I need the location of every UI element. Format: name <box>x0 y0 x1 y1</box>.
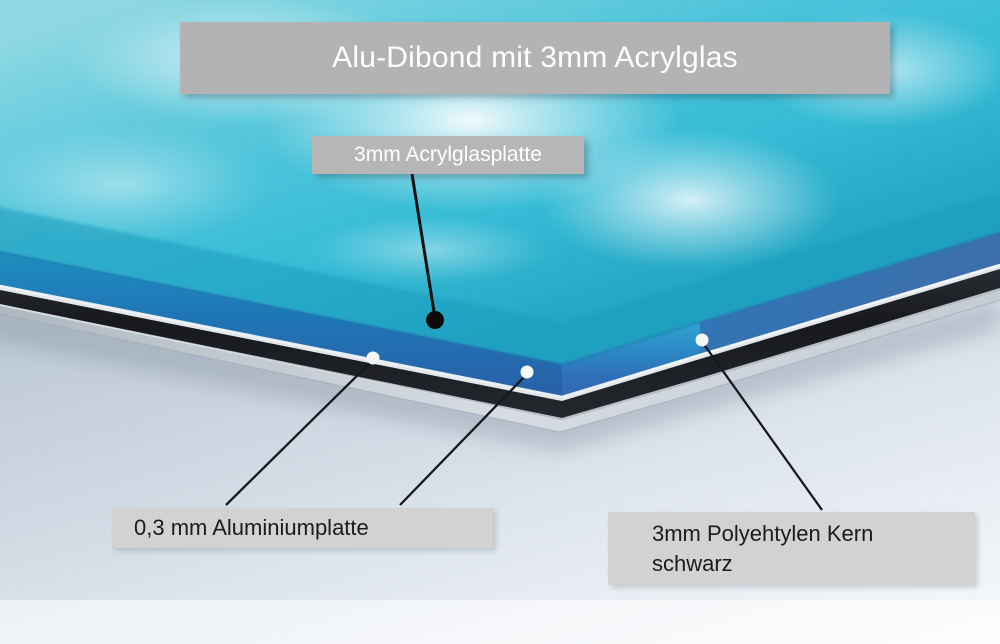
callout-aluminium-banner: 0,3 mm Aluminiumplatte <box>112 508 493 548</box>
callout-polyethylene-banner: 3mm Polyehtylen Kern schwarz <box>608 512 975 585</box>
callout-aluminium-text: 0,3 mm Aluminiumplatte <box>134 515 369 541</box>
callout-title-banner: Alu-Dibond mit 3mm Acrylglas <box>180 22 890 94</box>
polyethylene-core-marker-dot <box>696 334 709 347</box>
callout-acrylic-banner: 3mm Acrylglasplatte <box>312 136 584 174</box>
callout-title-text: Alu-Dibond mit 3mm Acrylglas <box>332 41 738 75</box>
table-foreground-highlight <box>0 600 1000 644</box>
acrylic-layer-marker-dot <box>426 311 444 329</box>
callout-polyethylene-text: 3mm Polyehtylen Kern schwarz <box>652 519 873 578</box>
aluminium-upper-marker-dot <box>367 352 380 365</box>
aluminium-lower-marker-dot <box>521 366 534 379</box>
product-diagram-image: Alu-Dibond mit 3mm Acrylglas 3mm Acrylgl… <box>0 0 1000 644</box>
callout-acrylic-text: 3mm Acrylglasplatte <box>354 143 542 167</box>
